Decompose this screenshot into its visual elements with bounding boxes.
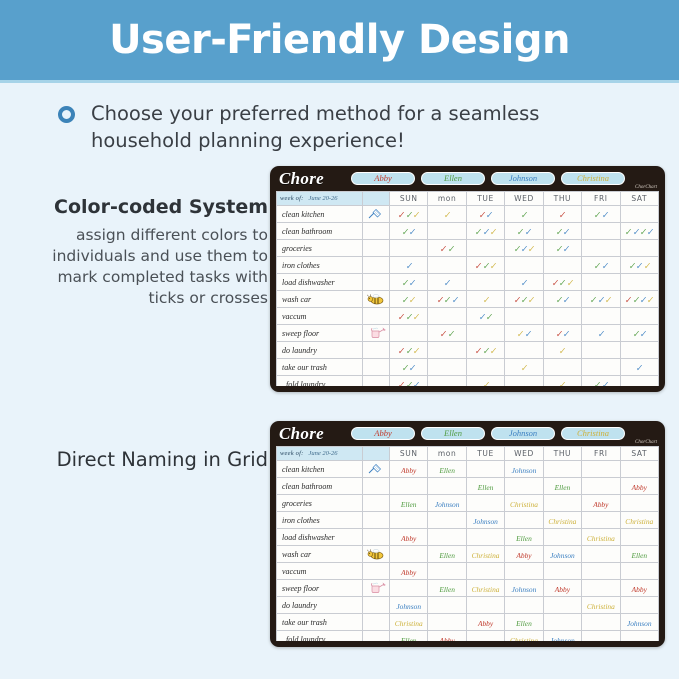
name-cell-r2-c2[interactable] xyxy=(466,495,504,512)
grid-head: week of:June 20-26SUNmonTUEWEDTHUFRISAT xyxy=(277,192,659,206)
tick-cell-r4-c4[interactable]: ✓✓✓ xyxy=(543,274,581,291)
name-cell-r1-c3[interactable] xyxy=(505,478,543,495)
name-cell-r8-c0[interactable]: Johnson xyxy=(390,597,428,614)
name-cell-r0-c6[interactable] xyxy=(620,461,658,478)
tick-cell-r2-c6[interactable] xyxy=(620,240,658,257)
task-label-5[interactable]: wash car xyxy=(277,546,363,563)
task-label-6[interactable]: vaccum xyxy=(277,308,363,325)
tick-cell-r10-c6[interactable] xyxy=(620,376,658,386)
tick-cell-r5-c3[interactable]: ✓✓✓ xyxy=(505,291,543,308)
tick-cell-r7-c1[interactable]: ✓✓ xyxy=(428,325,466,342)
table-row: sweep floor✓✓✓✓✓✓✓✓✓ xyxy=(277,325,659,342)
chore-board-direct-naming[interactable]: Chore Abby Ellen Johnson Christina ChorC… xyxy=(270,421,665,647)
tick-cell-r9-c0[interactable]: ✓✓ xyxy=(390,359,428,376)
week-of-label: week of: xyxy=(280,450,303,457)
tick-cell-r8-c1[interactable] xyxy=(428,342,466,359)
day-header-4: THU xyxy=(543,192,581,206)
tick-cell-r8-c5[interactable] xyxy=(582,342,620,359)
tick-cell-r7-c4[interactable]: ✓✓ xyxy=(543,325,581,342)
name-cell-r9-c2[interactable]: Abby xyxy=(466,614,504,631)
assigned-name: Abby xyxy=(555,586,570,593)
board-header: Chore Abby Ellen Johnson Christina ChorC… xyxy=(270,166,665,191)
tick-cell-r0-c5[interactable]: ✓✓ xyxy=(582,206,620,223)
tick-cell-r4-c2[interactable] xyxy=(466,274,504,291)
name-tag-2[interactable]: Johnson xyxy=(491,427,555,440)
name-cell-r6-c0[interactable]: Abby xyxy=(390,563,428,580)
tick-cell-r1-c1[interactable] xyxy=(428,223,466,240)
week-of-value: June 20-26 xyxy=(308,195,337,202)
task-label-2[interactable]: groceries xyxy=(277,240,363,257)
tick-cell-r8-c0[interactable]: ✓✓✓ xyxy=(390,342,428,359)
name-tag-1[interactable]: Ellen xyxy=(421,172,485,185)
task-label-3[interactable]: iron clothes xyxy=(277,257,363,274)
week-of-value: June 20-26 xyxy=(308,450,337,457)
tick-cell-r3-c4[interactable] xyxy=(543,257,581,274)
task-label-4[interactable]: load dishwasher xyxy=(277,274,363,291)
tick-cell-r0-c2[interactable]: ✓✓ xyxy=(466,206,504,223)
bee-icon xyxy=(363,291,390,308)
tick-cell-r8-c4[interactable]: ✓ xyxy=(543,342,581,359)
tick-cell-r10-c0[interactable]: ✓✓✓ xyxy=(390,376,428,386)
task-label-10[interactable]: fold laundry xyxy=(277,376,363,386)
day-header-1: mon xyxy=(428,447,466,461)
assigned-name: Abby xyxy=(401,535,416,542)
check-mark-icon: ✓ xyxy=(398,212,404,222)
name-cell-r0-c0[interactable]: Abby xyxy=(390,461,428,478)
task-label-1[interactable]: clean bathroom xyxy=(277,223,363,240)
task-label-7[interactable]: sweep floor xyxy=(277,580,363,597)
name-cell-r4-c0[interactable]: Abby xyxy=(390,529,428,546)
check-mark-icon: ✓ xyxy=(490,263,496,273)
name-cell-r5-c6[interactable]: Ellen xyxy=(620,546,658,563)
name-cell-r1-c0[interactable] xyxy=(390,478,428,495)
tick-cell-r1-c2[interactable]: ✓✓✓ xyxy=(466,223,504,240)
day-header-6: SAT xyxy=(620,447,658,461)
tick-cell-r3-c1[interactable] xyxy=(428,257,466,274)
check-mark-icon: ✓ xyxy=(556,229,562,239)
day-header-0: SUN xyxy=(390,447,428,461)
assigned-name: Christina xyxy=(510,501,538,508)
tick-cell-r6-c2[interactable]: ✓✓ xyxy=(466,308,504,325)
name-cell-r9-c3[interactable]: Ellen xyxy=(505,614,543,631)
table-row: groceriesEllenJohnsonChristinaAbby xyxy=(277,495,659,512)
task-label-0[interactable]: clean kitchen xyxy=(277,461,363,478)
name-cell-r7-c1[interactable]: Ellen xyxy=(428,580,466,597)
name-cell-r4-c2[interactable] xyxy=(466,529,504,546)
circle-ring-icon xyxy=(58,106,75,123)
name-cell-r8-c6[interactable] xyxy=(620,597,658,614)
tick-cell-r9-c5[interactable] xyxy=(582,359,620,376)
name-cell-r3-c5[interactable] xyxy=(582,512,620,529)
name-cell-r0-c3[interactable]: Johnson xyxy=(505,461,543,478)
assigned-name: Ellen xyxy=(439,467,455,474)
task-label-8[interactable]: do laundry xyxy=(277,342,363,359)
tick-cell-r10-c4[interactable]: ✓ xyxy=(543,376,581,386)
name-tag-0[interactable]: Abby xyxy=(351,172,415,185)
name-cell-r1-c5[interactable] xyxy=(582,478,620,495)
day-header-6: SAT xyxy=(620,192,658,206)
name-cell-r2-c3[interactable]: Christina xyxy=(505,495,543,512)
check-mark-icon: ✓ xyxy=(594,263,600,273)
board-header: Chore Abby Ellen Johnson Christina ChorC… xyxy=(270,421,665,446)
assigned-name: Ellen xyxy=(439,552,455,559)
tick-cell-r6-c1[interactable] xyxy=(428,308,466,325)
tick-cell-r9-c4[interactable] xyxy=(543,359,581,376)
name-cell-r7-c3[interactable]: Johnson xyxy=(505,580,543,597)
tick-cell-r1-c6[interactable]: ✓✓✓✓ xyxy=(620,223,658,240)
check-mark-icon: ✓ xyxy=(632,229,638,239)
chore-board-color-coded[interactable]: Chore Abby Ellen Johnson Christina ChorC… xyxy=(270,166,665,392)
header-divider xyxy=(0,80,679,83)
tick-cell-r8-c3[interactable] xyxy=(505,342,543,359)
name-cell-r5-c4[interactable]: Johnson xyxy=(543,546,581,563)
name-cell-r3-c3[interactable] xyxy=(505,512,543,529)
task-icon-empty-10 xyxy=(363,376,390,386)
tick-cell-r8-c6[interactable] xyxy=(620,342,658,359)
check-mark-icon: ✓ xyxy=(647,229,653,239)
name-cell-r1-c1[interactable] xyxy=(428,478,466,495)
name-cell-r9-c0[interactable]: Christina xyxy=(390,614,428,631)
check-mark-icon: ✓ xyxy=(605,297,611,307)
broom-icon xyxy=(363,206,390,223)
name-cell-r4-c1[interactable] xyxy=(428,529,466,546)
task-icon-empty-2 xyxy=(363,240,390,257)
chore-grid-ticks: week of:June 20-26SUNmonTUEWEDTHUFRISAT … xyxy=(276,191,659,386)
name-cell-r6-c3[interactable] xyxy=(505,563,543,580)
name-cell-r8-c4[interactable] xyxy=(543,597,581,614)
name-cell-r7-c4[interactable]: Abby xyxy=(543,580,581,597)
tick-cell-r9-c2[interactable] xyxy=(466,359,504,376)
name-cell-r8-c5[interactable]: Christina xyxy=(582,597,620,614)
task-icon-empty-10 xyxy=(363,631,390,641)
tick-cell-r0-c3[interactable]: ✓ xyxy=(505,206,543,223)
name-cell-r7-c5[interactable] xyxy=(582,580,620,597)
tick-cell-r0-c6[interactable] xyxy=(620,206,658,223)
table-row: load dishwasherAbbyEllenChristina xyxy=(277,529,659,546)
task-label-10[interactable]: fold laundry xyxy=(277,631,363,641)
check-mark-icon: ✓ xyxy=(437,297,443,307)
assigned-name: Ellen xyxy=(516,535,532,542)
tick-cell-r3-c6[interactable]: ✓✓✓ xyxy=(620,257,658,274)
check-mark-icon: ✓ xyxy=(556,297,562,307)
name-cell-r3-c4[interactable]: Christina xyxy=(543,512,581,529)
task-label-0[interactable]: clean kitchen xyxy=(277,206,363,223)
table-row: vaccum✓✓✓✓✓ xyxy=(277,308,659,325)
tick-cell-r3-c5[interactable]: ✓✓ xyxy=(582,257,620,274)
check-mark-icon: ✓ xyxy=(636,365,642,375)
name-tag-3[interactable]: Christina xyxy=(561,172,625,185)
assigned-name: Ellen xyxy=(401,501,417,508)
check-mark-icon: ✓ xyxy=(594,212,600,222)
task-label-3[interactable]: iron clothes xyxy=(277,512,363,529)
task-icon-empty-3 xyxy=(363,257,390,274)
name-cell-r6-c2[interactable] xyxy=(466,563,504,580)
tick-cell-r6-c6[interactable] xyxy=(620,308,658,325)
tick-cell-r10-c3[interactable] xyxy=(505,376,543,386)
check-mark-icon: ✓ xyxy=(524,331,530,341)
tick-cell-r6-c0[interactable]: ✓✓✓ xyxy=(390,308,428,325)
check-mark-icon: ✓ xyxy=(482,382,488,386)
assigned-name: Abby xyxy=(632,484,647,491)
tick-cell-r10-c2[interactable]: ✓ xyxy=(466,376,504,386)
page-title: User-Friendly Design xyxy=(109,17,570,63)
name-cell-r1-c4[interactable]: Ellen xyxy=(543,478,581,495)
tick-cell-r8-c2[interactable]: ✓✓✓ xyxy=(466,342,504,359)
tick-cell-r3-c3[interactable] xyxy=(505,257,543,274)
tick-cell-r7-c0[interactable] xyxy=(390,325,428,342)
check-mark-icon: ✓ xyxy=(521,365,527,375)
check-mark-icon: ✓ xyxy=(475,263,481,273)
tick-cell-r6-c5[interactable] xyxy=(582,308,620,325)
assigned-name: Christina xyxy=(625,518,653,525)
name-cell-r10-c4[interactable]: Johnson xyxy=(543,631,581,641)
caption-color-coded: Color-coded System assign different colo… xyxy=(22,196,268,309)
tick-cell-r1-c5[interactable] xyxy=(582,223,620,240)
check-mark-icon: ✓ xyxy=(559,212,565,222)
name-cell-r2-c0[interactable]: Ellen xyxy=(390,495,428,512)
task-icon-empty-6 xyxy=(363,308,390,325)
assigned-name: Abby xyxy=(401,569,416,576)
caption-title: Direct Naming in Grid xyxy=(22,448,268,471)
tick-cell-r2-c1[interactable]: ✓✓ xyxy=(428,240,466,257)
task-label-6[interactable]: vaccum xyxy=(277,563,363,580)
assigned-name: Ellen xyxy=(555,484,571,491)
tick-cell-r4-c3[interactable]: ✓ xyxy=(505,274,543,291)
tick-cell-r7-c6[interactable]: ✓✓ xyxy=(620,325,658,342)
name-cell-r2-c1[interactable]: Johnson xyxy=(428,495,466,512)
task-icon-empty-1 xyxy=(363,478,390,495)
name-cell-r10-c1[interactable]: Abby xyxy=(428,631,466,641)
check-mark-icon: ✓ xyxy=(552,280,558,290)
name-cell-r4-c3[interactable]: Ellen xyxy=(505,529,543,546)
assigned-name: Johnson xyxy=(627,620,652,627)
check-mark-icon: ✓ xyxy=(482,297,488,307)
tick-cell-r10-c5[interactable]: ✓✓ xyxy=(582,376,620,386)
assigned-name: Abby xyxy=(593,501,608,508)
grid-body: clean kitchenAbbyEllenJohnsonclean bathr… xyxy=(277,461,659,641)
name-cell-r1-c6[interactable]: Abby xyxy=(620,478,658,495)
tick-cell-r2-c5[interactable] xyxy=(582,240,620,257)
caption-body: assign different colors to individuals a… xyxy=(22,225,268,309)
page-header: User-Friendly Design xyxy=(0,0,679,80)
check-mark-icon: ✓ xyxy=(632,331,638,341)
name-cell-r2-c5[interactable]: Abby xyxy=(582,495,620,512)
check-mark-icon: ✓ xyxy=(444,297,450,307)
tick-cell-r2-c0[interactable] xyxy=(390,240,428,257)
name-cell-r0-c1[interactable]: Ellen xyxy=(428,461,466,478)
check-mark-icon: ✓ xyxy=(444,280,450,290)
tick-cell-r1-c0[interactable]: ✓✓ xyxy=(390,223,428,240)
tick-cell-r7-c3[interactable]: ✓✓ xyxy=(505,325,543,342)
tick-cell-r0-c4[interactable]: ✓ xyxy=(543,206,581,223)
check-mark-icon: ✓ xyxy=(556,246,562,256)
name-cell-r10-c6[interactable] xyxy=(620,631,658,641)
check-mark-icon: ✓ xyxy=(402,229,408,239)
check-mark-icon: ✓ xyxy=(406,382,412,386)
name-tag-label: Abby xyxy=(374,429,391,438)
check-mark-icon: ✓ xyxy=(598,331,604,341)
name-cell-r10-c2[interactable] xyxy=(466,631,504,641)
day-header-0: SUN xyxy=(390,192,428,206)
table-row: clean bathroomEllenEllenAbby xyxy=(277,478,659,495)
name-cell-r10-c0[interactable]: Ellen xyxy=(390,631,428,641)
day-header-1: mon xyxy=(428,192,466,206)
check-mark-icon: ✓ xyxy=(629,263,635,273)
week-of-header[interactable]: week of:June 20-26 xyxy=(277,192,363,206)
tick-cell-r4-c1[interactable]: ✓ xyxy=(428,274,466,291)
tick-cell-r5-c2[interactable]: ✓ xyxy=(466,291,504,308)
check-mark-icon: ✓ xyxy=(640,229,646,239)
name-cell-r3-c6[interactable]: Christina xyxy=(620,512,658,529)
name-cell-r4-c5[interactable]: Christina xyxy=(582,529,620,546)
tick-cell-r2-c3[interactable]: ✓✓✓ xyxy=(505,240,543,257)
board-logo: Chore xyxy=(279,424,345,444)
task-icon-empty-3 xyxy=(363,512,390,529)
name-cell-r5-c2[interactable]: Christina xyxy=(466,546,504,563)
tick-cell-r9-c6[interactable]: ✓ xyxy=(620,359,658,376)
table-row: take our trashChristinaAbbyEllenJohnson xyxy=(277,614,659,631)
name-cell-r9-c1[interactable] xyxy=(428,614,466,631)
tick-cell-r6-c3[interactable] xyxy=(505,308,543,325)
tick-cell-r4-c6[interactable] xyxy=(620,274,658,291)
tick-cell-r3-c2[interactable]: ✓✓✓ xyxy=(466,257,504,274)
name-cell-r5-c1[interactable]: Ellen xyxy=(428,546,466,563)
name-cell-r1-c2[interactable]: Ellen xyxy=(466,478,504,495)
check-mark-icon: ✓ xyxy=(413,314,419,324)
name-cell-r7-c6[interactable]: Abby xyxy=(620,580,658,597)
table-row: wash carEllenChristinaAbbyJohnsonEllen xyxy=(277,546,659,563)
tick-cell-r4-c0[interactable]: ✓✓ xyxy=(390,274,428,291)
assigned-name: Johnson xyxy=(396,603,421,610)
day-header-3: WED xyxy=(505,192,543,206)
tick-cell-r9-c1[interactable] xyxy=(428,359,466,376)
name-cell-r6-c5[interactable] xyxy=(582,563,620,580)
name-cell-r6-c4[interactable] xyxy=(543,563,581,580)
assigned-name: Abby xyxy=(632,586,647,593)
task-icon-empty-9 xyxy=(363,614,390,631)
tick-cell-r5-c1[interactable]: ✓✓✓ xyxy=(428,291,466,308)
name-cell-r10-c3[interactable]: Christina xyxy=(505,631,543,641)
check-mark-icon: ✓ xyxy=(448,246,454,256)
assigned-name: Johnson xyxy=(512,586,537,593)
name-cell-r0-c5[interactable] xyxy=(582,461,620,478)
task-label-8[interactable]: do laundry xyxy=(277,597,363,614)
chore-grid-names: week of:June 20-26SUNmonTUEWEDTHUFRISAT … xyxy=(276,446,659,641)
subtitle-text: Choose your preferred method for a seaml… xyxy=(91,101,539,155)
name-cell-r9-c4[interactable] xyxy=(543,614,581,631)
tick-cell-r0-c1[interactable]: ✓ xyxy=(428,206,466,223)
tick-cell-r7-c2[interactable] xyxy=(466,325,504,342)
tick-cell-r1-c3[interactable]: ✓✓ xyxy=(505,223,543,240)
tick-cell-r10-c1[interactable] xyxy=(428,376,466,386)
icon-column-header xyxy=(363,192,390,206)
tick-cell-r6-c4[interactable] xyxy=(543,308,581,325)
name-cell-r0-c2[interactable] xyxy=(466,461,504,478)
assigned-name: Christina xyxy=(472,552,500,559)
check-mark-icon: ✓ xyxy=(413,382,419,386)
check-mark-icon: ✓ xyxy=(402,280,408,290)
tick-cell-r9-c3[interactable]: ✓ xyxy=(505,359,543,376)
check-mark-icon: ✓ xyxy=(479,314,485,324)
tick-cell-r1-c4[interactable]: ✓✓ xyxy=(543,223,581,240)
name-cell-r9-c5[interactable] xyxy=(582,614,620,631)
name-cell-r0-c4[interactable] xyxy=(543,461,581,478)
board-logo: Chore xyxy=(279,169,345,189)
name-cell-r6-c1[interactable] xyxy=(428,563,466,580)
name-cell-r4-c6[interactable] xyxy=(620,529,658,546)
tick-cell-r2-c2[interactable] xyxy=(466,240,504,257)
assigned-name: Abby xyxy=(516,552,531,559)
check-mark-icon: ✓ xyxy=(406,348,412,358)
name-tag-3[interactable]: Christina xyxy=(561,427,625,440)
task-label-9[interactable]: take our trash xyxy=(277,359,363,376)
name-tag-2[interactable]: Johnson xyxy=(491,172,555,185)
name-tag-1[interactable]: Ellen xyxy=(421,427,485,440)
tick-cell-r5-c4[interactable]: ✓✓ xyxy=(543,291,581,308)
name-cell-r3-c0[interactable] xyxy=(390,512,428,529)
tick-cell-r2-c4[interactable]: ✓✓ xyxy=(543,240,581,257)
task-label-5[interactable]: wash car xyxy=(277,291,363,308)
task-icon-empty-2 xyxy=(363,495,390,512)
name-cell-r3-c1[interactable] xyxy=(428,512,466,529)
name-cell-r3-c2[interactable]: Johnson xyxy=(466,512,504,529)
task-label-4[interactable]: load dishwasher xyxy=(277,529,363,546)
name-cell-r8-c1[interactable] xyxy=(428,597,466,614)
subtitle-line-2: household planning experience! xyxy=(91,128,539,155)
name-cell-r2-c6[interactable] xyxy=(620,495,658,512)
name-cell-r8-c3[interactable] xyxy=(505,597,543,614)
check-mark-icon: ✓ xyxy=(625,229,631,239)
check-mark-icon: ✓ xyxy=(513,297,519,307)
tick-cell-r7-c5[interactable]: ✓ xyxy=(582,325,620,342)
name-cell-r5-c3[interactable]: Abby xyxy=(505,546,543,563)
name-cell-r9-c6[interactable]: Johnson xyxy=(620,614,658,631)
name-tag-0[interactable]: Abby xyxy=(351,427,415,440)
task-label-9[interactable]: take our trash xyxy=(277,614,363,631)
day-header-5: FRI xyxy=(582,447,620,461)
day-header-5: FRI xyxy=(582,192,620,206)
tick-cell-r5-c0[interactable]: ✓✓ xyxy=(390,291,428,308)
caption-direct-naming: Direct Naming in Grid xyxy=(22,448,268,471)
check-mark-icon: ✓ xyxy=(490,348,496,358)
week-of-header[interactable]: week of:June 20-26 xyxy=(277,447,363,461)
name-cell-r7-c2[interactable]: Christina xyxy=(466,580,504,597)
name-cell-r5-c0[interactable] xyxy=(390,546,428,563)
tick-cell-r5-c6[interactable]: ✓✓✓✓ xyxy=(620,291,658,308)
name-cell-r6-c6[interactable] xyxy=(620,563,658,580)
name-cell-r10-c5[interactable] xyxy=(582,631,620,641)
check-mark-icon: ✓ xyxy=(490,229,496,239)
task-label-1[interactable]: clean bathroom xyxy=(277,478,363,495)
name-cell-r8-c2[interactable] xyxy=(466,597,504,614)
tick-cell-r4-c5[interactable] xyxy=(582,274,620,291)
task-label-7[interactable]: sweep floor xyxy=(277,325,363,342)
board-sheet: week of:June 20-26SUNmonTUEWEDTHUFRISAT … xyxy=(276,191,659,386)
tick-cell-r0-c0[interactable]: ✓✓✓ xyxy=(390,206,428,223)
name-cell-r5-c5[interactable] xyxy=(582,546,620,563)
name-cell-r7-c0[interactable] xyxy=(390,580,428,597)
check-mark-icon: ✓ xyxy=(636,263,642,273)
check-mark-icon: ✓ xyxy=(406,314,412,324)
task-icon-empty-4 xyxy=(363,274,390,291)
table-row: take our trash✓✓✓✓ xyxy=(277,359,659,376)
task-label-2[interactable]: groceries xyxy=(277,495,363,512)
name-cell-r4-c4[interactable] xyxy=(543,529,581,546)
tick-cell-r5-c5[interactable]: ✓✓✓ xyxy=(582,291,620,308)
check-mark-icon: ✓ xyxy=(406,212,412,222)
name-cell-r2-c4[interactable] xyxy=(543,495,581,512)
tick-cell-r3-c0[interactable]: ✓ xyxy=(390,257,428,274)
